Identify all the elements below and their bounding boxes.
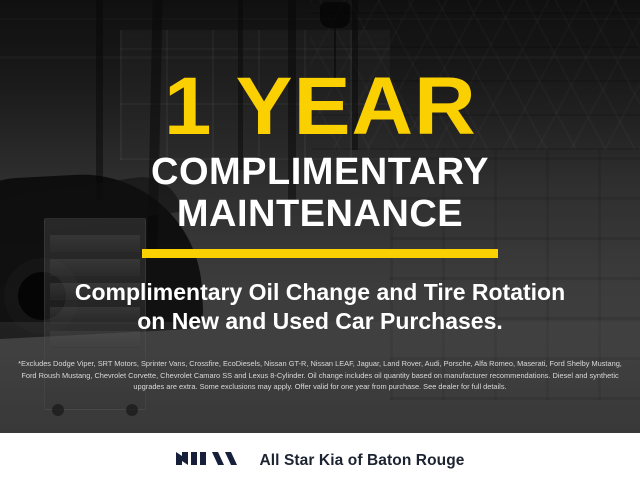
banner-content: 1 YEAR COMPLIMENTARY MAINTENANCE Complim… bbox=[0, 0, 640, 488]
promotional-banner: 1 YEAR COMPLIMENTARY MAINTENANCE Complim… bbox=[0, 0, 640, 488]
offer-description: Complimentary Oil Change and Tire Rotati… bbox=[75, 278, 565, 337]
headline-year: 1 YEAR bbox=[164, 72, 477, 143]
offer-line-2: on New and Used Car Purchases. bbox=[137, 308, 503, 334]
disclaimer-text: *Excludes Dodge Viper, SRT Motors, Sprin… bbox=[12, 358, 628, 392]
offer-line-1: Complimentary Oil Change and Tire Rotati… bbox=[75, 279, 565, 305]
yellow-divider-rule bbox=[142, 249, 498, 258]
kia-logo-icon bbox=[175, 448, 241, 474]
disclaimer-line-1: *Excludes Dodge Viper, SRT Motors, Sprin… bbox=[18, 359, 589, 368]
footer-bar: All Star Kia of Baton Rouge bbox=[0, 433, 640, 488]
headline-maintenance: MAINTENANCE bbox=[177, 195, 463, 233]
headline-complimentary: COMPLIMENTARY bbox=[151, 153, 489, 191]
dealer-name: All Star Kia of Baton Rouge bbox=[259, 452, 464, 470]
